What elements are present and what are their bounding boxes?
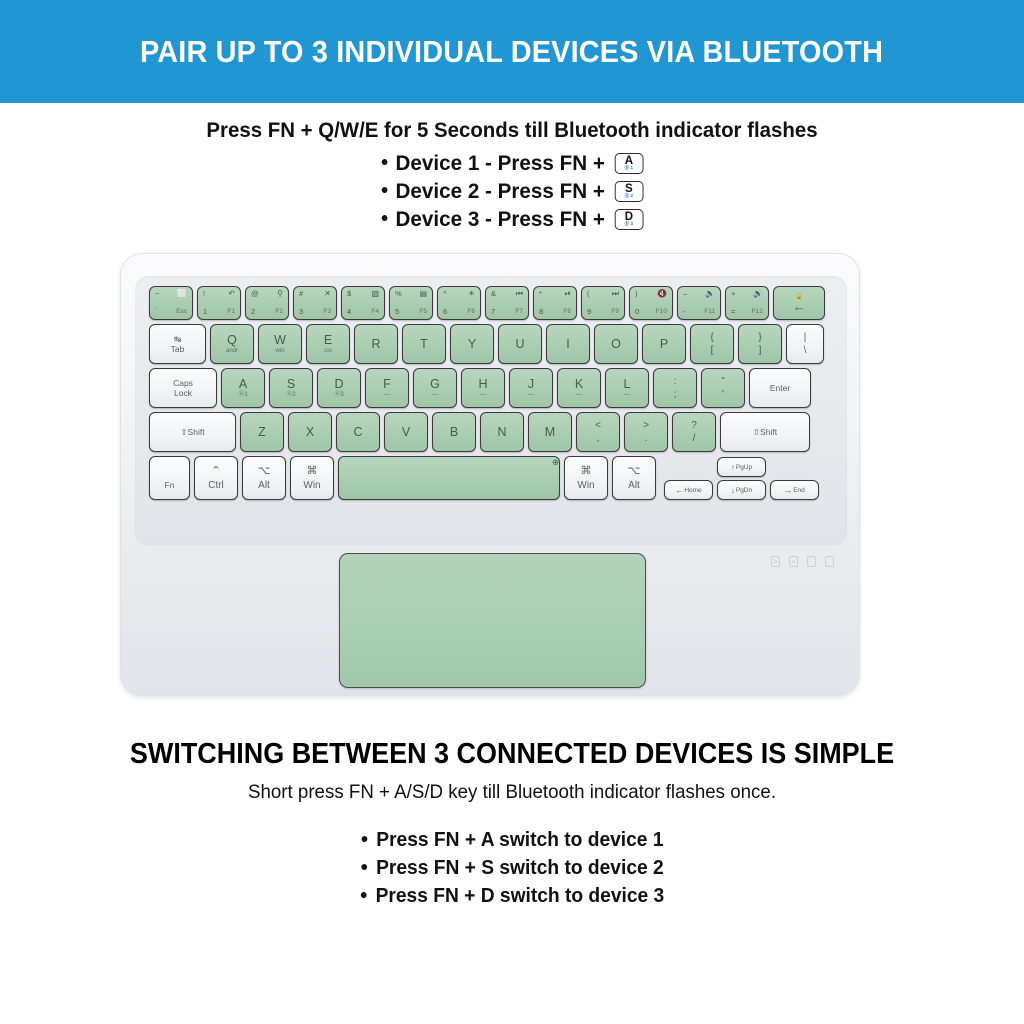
key-sublabel: —	[432, 392, 438, 399]
key-i[interactable]: I	[546, 324, 590, 364]
key-u[interactable]: U	[498, 324, 542, 364]
key-shift-label: ?	[691, 421, 697, 431]
key-f7[interactable]: &⏮7F7	[485, 286, 529, 320]
key-main-label: Q	[227, 334, 237, 347]
key-k[interactable]: K—	[557, 368, 601, 408]
key-shift-label: *	[539, 290, 542, 298]
bluetooth-channel-icon: ⓑ2	[286, 392, 295, 399]
battery-indicator-icon	[807, 556, 816, 567]
key-sublabel: —	[384, 392, 390, 399]
key-main-label: G	[430, 378, 440, 391]
key-main-label: T	[420, 338, 428, 351]
keyboard-row-numbers: ~⬜`Esc!↶1F1@⚲2F2#✕3F3$▧4F4%▤5F5^☀6F6&⏮7F…	[149, 286, 825, 320]
key-fn-label: Fn	[165, 480, 175, 490]
key-main-label: .	[645, 434, 648, 444]
key-arrow-left-label: Home	[684, 487, 701, 494]
bullet-dot-icon: ●	[381, 154, 389, 168]
key-main-label: V	[402, 426, 410, 439]
key-main-label: D	[334, 378, 343, 391]
key-main-label: R	[371, 338, 380, 351]
key-b[interactable]: B	[432, 412, 476, 452]
key-shift-label: |	[804, 333, 807, 343]
key-fkey-label: F6	[467, 308, 475, 316]
key-main-label: 4	[347, 308, 351, 316]
key-win-right[interactable]: ⌘Win	[564, 456, 608, 500]
key-badge-d-sublabel: ⓑ 3	[625, 221, 634, 226]
key-f2[interactable]: @⚲2F2	[245, 286, 289, 320]
key-alt-right-glyph-icon: ⌥	[628, 466, 641, 477]
key-backspace[interactable]: 🔒←	[773, 286, 825, 320]
key-h[interactable]: H—	[461, 368, 505, 408]
arrow-down-icon: ↓PgDn	[731, 486, 752, 495]
key-main-label: A	[239, 378, 247, 391]
keyboard-illustration: ~⬜`Esc!↶1F1@⚲2F2#✕3F3$▧4F4%▤5F5^☀6F6&⏮7F…	[120, 253, 860, 696]
key-alt-right-label: Alt	[628, 480, 640, 491]
bullet-dot-icon: ●	[381, 210, 389, 224]
key-backslash[interactable]: |\	[786, 324, 824, 364]
key-main-label: P	[660, 338, 668, 351]
trackpad[interactable]	[339, 553, 646, 688]
header-banner: PAIR UP TO 3 INDIVIDUAL DEVICES VIA BLUE…	[0, 0, 1024, 103]
key-shift-label: }	[758, 333, 761, 343]
key-shift-right-label: ⇧Shift	[753, 427, 777, 437]
key-fkey-label: F10	[656, 308, 667, 316]
key-space[interactable]: ⊕	[338, 456, 560, 500]
keyboard-row-home: CapsLockAⓑ1Sⓑ2Dⓑ3F—G—H—J—K—L—:;"'Enter	[149, 368, 811, 408]
key-main-label: X	[306, 426, 314, 439]
key-fn-glyph-icon: 🔊	[753, 290, 763, 298]
page-title: PAIR UP TO 3 INDIVIDUAL DEVICES VIA BLUE…	[140, 34, 883, 70]
key-shift-label: –	[683, 290, 687, 298]
bluetooth-channel-icon: ⓑ3	[334, 392, 343, 399]
key-sublabel: —	[576, 392, 582, 399]
key-main-label: 5	[395, 308, 399, 316]
bullet-dot-icon: ●	[381, 182, 389, 196]
key-win-right-label: Win	[577, 480, 594, 491]
key-f11[interactable]: –🔉-F11	[677, 286, 721, 320]
key-badge-s-letter: S	[625, 184, 633, 193]
key-y[interactable]: Y	[450, 324, 494, 364]
key-shift-label: $	[347, 290, 351, 298]
globe-icon: ⊕	[552, 457, 559, 467]
key-fkey-label: F9	[611, 308, 619, 316]
key-comma[interactable]: <,	[576, 412, 620, 452]
key-fkey-label: F5	[419, 308, 427, 316]
key-shift-label: "	[721, 377, 725, 387]
tab-arrow-icon: ↹	[174, 334, 181, 344]
key-main-label: 3	[299, 308, 303, 316]
key-f1[interactable]: !↶1F1	[197, 286, 241, 320]
key-fkey-label: F2	[275, 308, 283, 316]
pairing-item-3-text: Device 3 - Press FN +	[396, 207, 605, 232]
key-win-glyph-icon: ⌘	[307, 466, 318, 477]
key-bracket-right[interactable]: }]	[738, 324, 782, 364]
key-main-label: E	[324, 334, 332, 347]
key-fn-glyph-icon: ⏯	[565, 290, 571, 298]
key-main-label: Y	[468, 338, 476, 351]
key-ctrl-glyph-icon: ⌃	[211, 466, 220, 477]
key-g[interactable]: G—	[413, 368, 457, 408]
key-shift-left-label: ⇧Shift	[180, 427, 204, 437]
key-os-sublabel: win	[275, 348, 284, 355]
lock-icon: 🔒	[795, 293, 803, 301]
key-backspace-arrow-icon: ←	[793, 301, 806, 314]
switching-item-3-text: Press FN + D switch to device 3	[376, 885, 665, 908]
key-badge-s: S ⓑ 2	[615, 181, 644, 202]
switching-section: SWITCHING BETWEEN 3 CONNECTED DEVICES IS…	[0, 738, 1024, 910]
key-fkey-label: Esc	[176, 308, 187, 316]
key-fn-glyph-icon: ▤	[419, 290, 427, 298]
key-main-label: U	[515, 338, 524, 351]
keyboard-body: ~⬜`Esc!↶1F1@⚲2F2#✕3F3$▧4F4%▤5F5^☀6F6&⏮7F…	[120, 253, 860, 696]
key-badge-a: A ⓑ 1	[615, 153, 644, 174]
keyboard-row-qwerty: ↹TabQandrWwinEiosRTYUIOP{[}]|\	[149, 324, 824, 364]
key-c[interactable]: C	[336, 412, 380, 452]
charge-indicator-icon	[825, 556, 834, 567]
key-fn-glyph-icon: ▧	[371, 290, 379, 298]
key-q[interactable]: Qandr	[210, 324, 254, 364]
key-arrow-left[interactable]: ←Home	[664, 480, 713, 500]
key-main-label: I	[566, 338, 569, 351]
key-badge-s-sublabel: ⓑ 2	[625, 193, 634, 198]
key-main-label: /	[693, 434, 696, 444]
key-w[interactable]: Wwin	[258, 324, 302, 364]
key-m[interactable]: M	[528, 412, 572, 452]
key-main-label: H	[478, 378, 487, 391]
key-shift-right[interactable]: ⇧Shift	[720, 412, 810, 452]
key-arrow-down-label: PgDn	[736, 487, 752, 494]
key-main-label: \	[804, 346, 807, 356]
key-f12[interactable]: +🔊=F12	[725, 286, 769, 320]
key-f3[interactable]: #✕3F3	[293, 286, 337, 320]
key-main-label: '	[722, 390, 724, 400]
bullet-dot-icon: ●	[360, 859, 368, 873]
key-t[interactable]: T	[402, 324, 446, 364]
arrow-up-icon: ↑PgUp	[731, 463, 752, 472]
key-enter-label: Enter	[770, 383, 790, 393]
key-main-label: B	[450, 426, 458, 439]
key-a[interactable]: Aⓑ1	[221, 368, 265, 408]
bullet-dot-icon: ●	[360, 887, 368, 901]
key-e[interactable]: Eios	[306, 324, 350, 364]
key-main-label: 0	[635, 308, 639, 316]
key-o[interactable]: O	[594, 324, 638, 364]
key-arrow-right-label: End	[793, 487, 805, 494]
key-f6[interactable]: ^☀6F6	[437, 286, 481, 320]
key-main-label: [	[711, 346, 714, 356]
key-fkey-label: F12	[752, 308, 763, 316]
key-main-label: -	[683, 308, 686, 316]
key-l[interactable]: L—	[605, 368, 649, 408]
key-main-label: C	[353, 426, 362, 439]
key-bracket-left[interactable]: {[	[690, 324, 734, 364]
switching-heading: SWITCHING BETWEEN 3 CONNECTED DEVICES IS…	[36, 738, 988, 771]
arrow-left-icon: ←Home	[675, 486, 701, 495]
key-alt[interactable]: ⌥Alt	[242, 456, 286, 500]
key-f5[interactable]: %▤5F5	[389, 286, 433, 320]
key-os-sublabel: andr	[226, 348, 238, 355]
key-main-label: 2	[251, 308, 255, 316]
key-ctrl[interactable]: ⌃Ctrl	[194, 456, 238, 500]
key-badge-d-letter: D	[625, 212, 633, 221]
switching-item-1-text: Press FN + A switch to device 1	[376, 829, 663, 852]
key-shift-label: (	[587, 290, 590, 298]
key-os-sublabel: ios	[324, 348, 332, 355]
key-main-label: ;	[674, 390, 677, 400]
key-main-label: O	[611, 338, 621, 351]
key-fkey-label: F4	[371, 308, 379, 316]
key-v[interactable]: V	[384, 412, 428, 452]
key-main-label: L	[624, 378, 631, 391]
key-win-right-glyph-icon: ⌘	[581, 466, 592, 477]
key-shift-label: @	[251, 290, 259, 298]
key-win[interactable]: ⌘Win	[290, 456, 334, 500]
key-main-label: 7	[491, 308, 495, 316]
key-fkey-label: F1	[227, 308, 235, 316]
pairing-lead-text: Press FN + Q/W/E for 5 Seconds till Blue…	[26, 118, 999, 143]
key-caps-line1: Caps	[173, 378, 193, 388]
key-main-label: F	[383, 378, 391, 391]
pairing-item-1-text: Device 1 - Press FN +	[396, 151, 605, 176]
key-shift-label: :	[674, 377, 677, 387]
key-sublabel: —	[528, 392, 534, 399]
key-fn-glyph-icon: ☀	[468, 290, 475, 298]
key-shift-label: ^	[443, 290, 447, 298]
key-arrow-up-label: PgUp	[736, 464, 752, 471]
key-badge-d: D ⓑ 3	[615, 209, 644, 230]
key-main-label: W	[274, 334, 286, 347]
key-shift-label: %	[395, 290, 402, 298]
key-shift-label: +	[731, 290, 735, 298]
key-alt-glyph-icon: ⌥	[258, 466, 271, 477]
key-main-label: 6	[443, 308, 447, 316]
pairing-instructions: Press FN + Q/W/E for 5 Seconds till Blue…	[0, 118, 1024, 233]
key-fn-glyph-icon: 🔇	[657, 290, 667, 298]
key-slash[interactable]: ?/	[672, 412, 716, 452]
bullet-dot-icon: ●	[360, 831, 368, 845]
key-arrow-up[interactable]: ↑PgUp	[717, 457, 766, 477]
key-p[interactable]: P	[642, 324, 686, 364]
key-main-label: Z	[258, 426, 266, 439]
key-d[interactable]: Dⓑ3	[317, 368, 361, 408]
key-f8[interactable]: *⏯8F8	[533, 286, 577, 320]
key-fn-glyph-icon: ⏮	[516, 290, 523, 298]
key-fn-glyph-icon: 🔉	[705, 290, 715, 298]
key-punct-semicolon[interactable]: :;	[653, 368, 697, 408]
key-fkey-label: F8	[563, 308, 571, 316]
key-shift-left[interactable]: ⇧Shift	[149, 412, 236, 452]
key-fn-glyph-icon: ⬜	[177, 290, 187, 298]
key-main-label: =	[731, 308, 735, 316]
pairing-item-3: ● Device 3 - Press FN + D ⓑ 3	[20, 205, 1003, 233]
switching-item-2-text: Press FN + S switch to device 2	[376, 857, 664, 880]
keyboard-row-zxcv: ⇧ShiftZXCVBNM<,>.?/⇧Shift	[149, 412, 810, 452]
key-esc[interactable]: ~⬜`Esc	[149, 286, 193, 320]
key-badge-a-sublabel: ⓑ 1	[625, 165, 634, 170]
key-f9[interactable]: (⏭9F9	[581, 286, 625, 320]
bluetooth-indicator-icon: b	[771, 556, 780, 567]
key-period[interactable]: >.	[624, 412, 668, 452]
arrow-updown-stack: ↑PgUp↓PgDn	[717, 457, 766, 500]
key-alt-right[interactable]: ⌥Alt	[612, 456, 656, 500]
pairing-item-1: ● Device 1 - Press FN + A ⓑ 1	[20, 149, 1003, 177]
key-win-label: Win	[303, 480, 320, 491]
keyboard-row-bottom: Fn⌃Ctrl⌥Alt⌘Win⊕⌘Win⌥Alt←Home↑PgUp↓PgDn→…	[149, 456, 819, 500]
key-fn-glyph-icon: ⏭	[612, 290, 619, 298]
caps-indicator-icon: a	[789, 556, 798, 567]
key-fkey-label: F11	[704, 308, 715, 316]
switching-item-1: ● Press FN + A switch to device 1	[20, 826, 1003, 854]
key-sublabel: —	[480, 392, 486, 399]
pairing-item-2-text: Device 2 - Press FN +	[396, 179, 605, 204]
key-main-label: M	[545, 426, 555, 439]
key-s[interactable]: Sⓑ2	[269, 368, 313, 408]
key-j[interactable]: J—	[509, 368, 553, 408]
key-tab-label: Tab	[171, 344, 185, 354]
key-punct-quote[interactable]: "'	[701, 368, 745, 408]
key-main-label: 8	[539, 308, 543, 316]
key-x[interactable]: X	[288, 412, 332, 452]
key-caps-lock[interactable]: CapsLock	[149, 368, 217, 408]
key-shift-label: <	[595, 421, 601, 431]
key-r[interactable]: R	[354, 324, 398, 364]
key-main-label: J	[528, 378, 534, 391]
key-tab[interactable]: ↹Tab	[149, 324, 206, 364]
key-arrow-right[interactable]: →End	[770, 480, 819, 500]
key-fn-glyph-icon: ⚲	[277, 290, 283, 298]
key-badge-a-letter: A	[625, 156, 633, 165]
key-arrow-down[interactable]: ↓PgDn	[717, 480, 766, 500]
bluetooth-channel-icon: ⓑ1	[238, 392, 247, 399]
key-main-label: K	[575, 378, 583, 391]
key-z[interactable]: Z	[240, 412, 284, 452]
key-f4[interactable]: $▧4F4	[341, 286, 385, 320]
status-indicator-group: b a	[771, 556, 834, 567]
key-shift-label: >	[643, 421, 649, 431]
key-fkey-label: F3	[323, 308, 331, 316]
key-n[interactable]: N	[480, 412, 524, 452]
key-shift-label: &	[491, 290, 496, 298]
key-main-label: ]	[759, 346, 762, 356]
key-alt-label: Alt	[258, 480, 270, 491]
key-ctrl-label: Ctrl	[208, 480, 224, 491]
key-caps-line2: Lock	[174, 388, 192, 398]
key-fn[interactable]: Fn	[149, 456, 190, 500]
key-main-label: 9	[587, 308, 591, 316]
arrow-right-icon: →End	[784, 486, 805, 495]
key-fn-glyph-icon: ✕	[324, 290, 331, 298]
key-fn-glyph-icon: ↶	[228, 290, 235, 298]
pairing-item-2: ● Device 2 - Press FN + S ⓑ 2	[20, 177, 1003, 205]
key-f[interactable]: F—	[365, 368, 409, 408]
key-main-label: 1	[203, 308, 207, 316]
switching-item-2: ● Press FN + S switch to device 2	[20, 854, 1003, 882]
key-main-label: `	[155, 308, 158, 316]
switching-subtitle: Short press FN + A/S/D key till Bluetoot…	[20, 781, 1003, 804]
key-main-label: S	[287, 378, 295, 391]
key-shift-label: #	[299, 290, 303, 298]
key-main-label: ,	[597, 434, 600, 444]
key-fkey-label: F7	[515, 308, 523, 316]
key-shift-label: !	[203, 290, 205, 298]
key-shift-label: ~	[155, 290, 159, 298]
switching-item-3: ● Press FN + D switch to device 3	[20, 882, 1003, 910]
key-sublabel: —	[624, 392, 630, 399]
arrow-key-cluster: ←Home↑PgUp↓PgDn→End	[664, 457, 819, 500]
key-shift-label: )	[635, 290, 638, 298]
key-enter[interactable]: Enter	[749, 368, 811, 408]
key-f10[interactable]: )🔇0F10	[629, 286, 673, 320]
key-main-label: N	[497, 426, 506, 439]
key-shift-label: {	[710, 333, 713, 343]
